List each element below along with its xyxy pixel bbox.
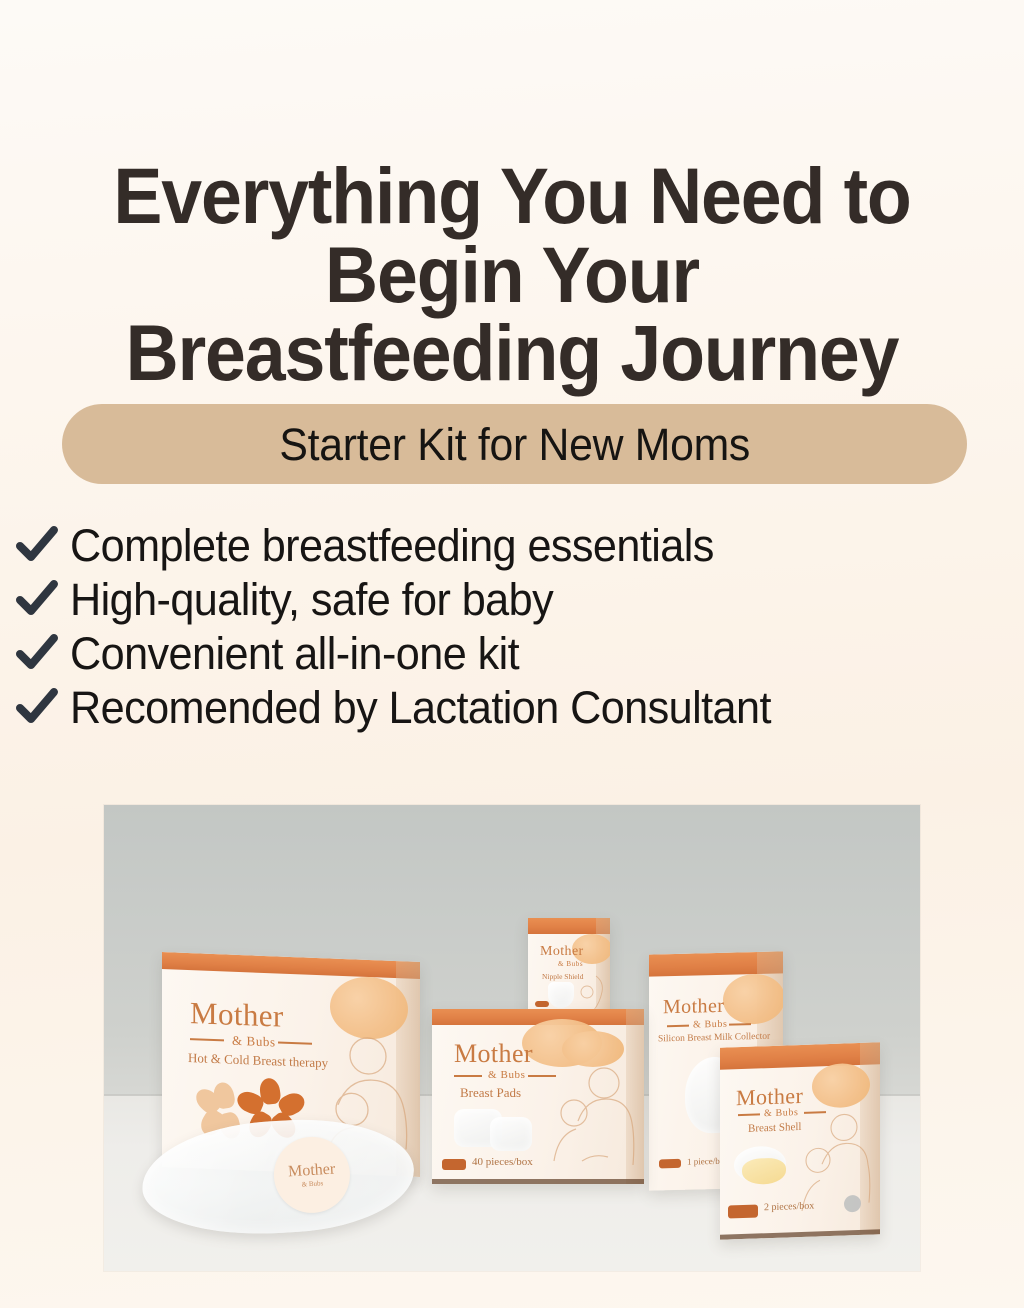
box-qty-chip xyxy=(659,1159,681,1169)
box-brand-sub: & Bubs xyxy=(764,1107,798,1119)
box-product-illustration-2 xyxy=(490,1117,532,1151)
box-product-name: Silicon Breast Milk Collector xyxy=(658,1032,770,1045)
checkmark-icon xyxy=(14,630,60,676)
product-box-breast-pads: Mother & Bubs Breast Pads 40 pieces/box xyxy=(432,1009,644,1184)
checkmark-icon xyxy=(14,522,60,568)
wrapped-pouch-item: Mother & Bubs xyxy=(139,1113,417,1241)
box-rule-left xyxy=(667,1025,689,1027)
box-rule-left xyxy=(738,1113,760,1115)
headline-line-1: Everything You Need to xyxy=(36,157,988,236)
box-brand-sub: & Bubs xyxy=(558,960,583,968)
product-box-breast-shell: Mother & Bubs Breast Shell 2 pieces/box xyxy=(720,1042,880,1240)
box-brand-name: Mother xyxy=(663,995,724,1019)
box-brand-name: Mother xyxy=(454,1039,533,1069)
box-rule-left xyxy=(454,1075,482,1077)
box-brand-name: Mother xyxy=(190,995,284,1035)
list-item: High-quality, safe for baby xyxy=(14,573,1014,625)
benefit-label: High-quality, safe for baby xyxy=(70,577,553,622)
box-product-illustration-2 xyxy=(742,1157,786,1185)
pouch-sticker-brand: Mother xyxy=(288,1161,336,1182)
poster-canvas: Everything You Need to Begin Your Breast… xyxy=(0,0,1024,1308)
product-photo: Mother & Bubs Silicon Breast Milk Collec… xyxy=(104,805,920,1271)
benefit-label: Recomended by Lactation Consultant xyxy=(70,685,771,730)
subtitle-label: Starter Kit for New Moms xyxy=(279,422,750,467)
box-qty-chip xyxy=(442,1159,466,1170)
headline-line-3: Breastfeeding Journey xyxy=(36,314,988,393)
box-rule-right xyxy=(729,1023,751,1025)
box-qty-text: 40 pieces/box xyxy=(472,1156,533,1168)
page-title: Everything You Need to Begin Your Breast… xyxy=(36,157,988,393)
box-qty-chip xyxy=(728,1204,758,1218)
checkmark-icon xyxy=(14,684,60,730)
product-box-nipple-shield: Mother & Bubs Nipple Shield xyxy=(528,918,610,1016)
box-blob-graphic-2 xyxy=(562,1031,624,1067)
pouch-sticker-sub: & Bubs xyxy=(301,1179,323,1188)
benefit-label: Convenient all-in-one kit xyxy=(70,631,519,676)
box-qty-text: 2 pieces/box xyxy=(764,1201,814,1214)
list-item: Convenient all-in-one kit xyxy=(14,627,1014,679)
mother-baby-line-art xyxy=(576,974,610,1012)
box-product-name: Hot & Cold Breast therapy xyxy=(188,1050,328,1071)
box-qty-chip xyxy=(535,1001,549,1007)
box-rule-left xyxy=(190,1038,224,1041)
subtitle-pill: Starter Kit for New Moms xyxy=(62,404,967,484)
benefits-list: Complete breastfeeding essentials High-q… xyxy=(14,519,1014,735)
headline-line-2: Begin Your xyxy=(36,236,988,315)
checkmark-icon xyxy=(14,576,60,622)
box-brand-sub: & Bubs xyxy=(232,1033,276,1051)
box-product-name: Breast Pads xyxy=(460,1085,521,1101)
list-item: Complete breastfeeding essentials xyxy=(14,519,1014,571)
mother-baby-line-art xyxy=(548,1065,640,1169)
box-product-illustration xyxy=(548,982,574,1008)
box-brand-name: Mother xyxy=(540,944,584,960)
benefit-label: Complete breastfeeding essentials xyxy=(70,523,714,568)
box-blob-graphic xyxy=(723,973,783,1025)
box-rule-right xyxy=(278,1042,312,1045)
list-item: Recomended by Lactation Consultant xyxy=(14,681,1014,733)
box-product-name: Breast Shell xyxy=(748,1121,801,1135)
box-bottom-stripe xyxy=(432,1179,644,1184)
box-brand-sub: & Bubs xyxy=(488,1069,526,1081)
box-brand-sub: & Bubs xyxy=(693,1019,727,1031)
